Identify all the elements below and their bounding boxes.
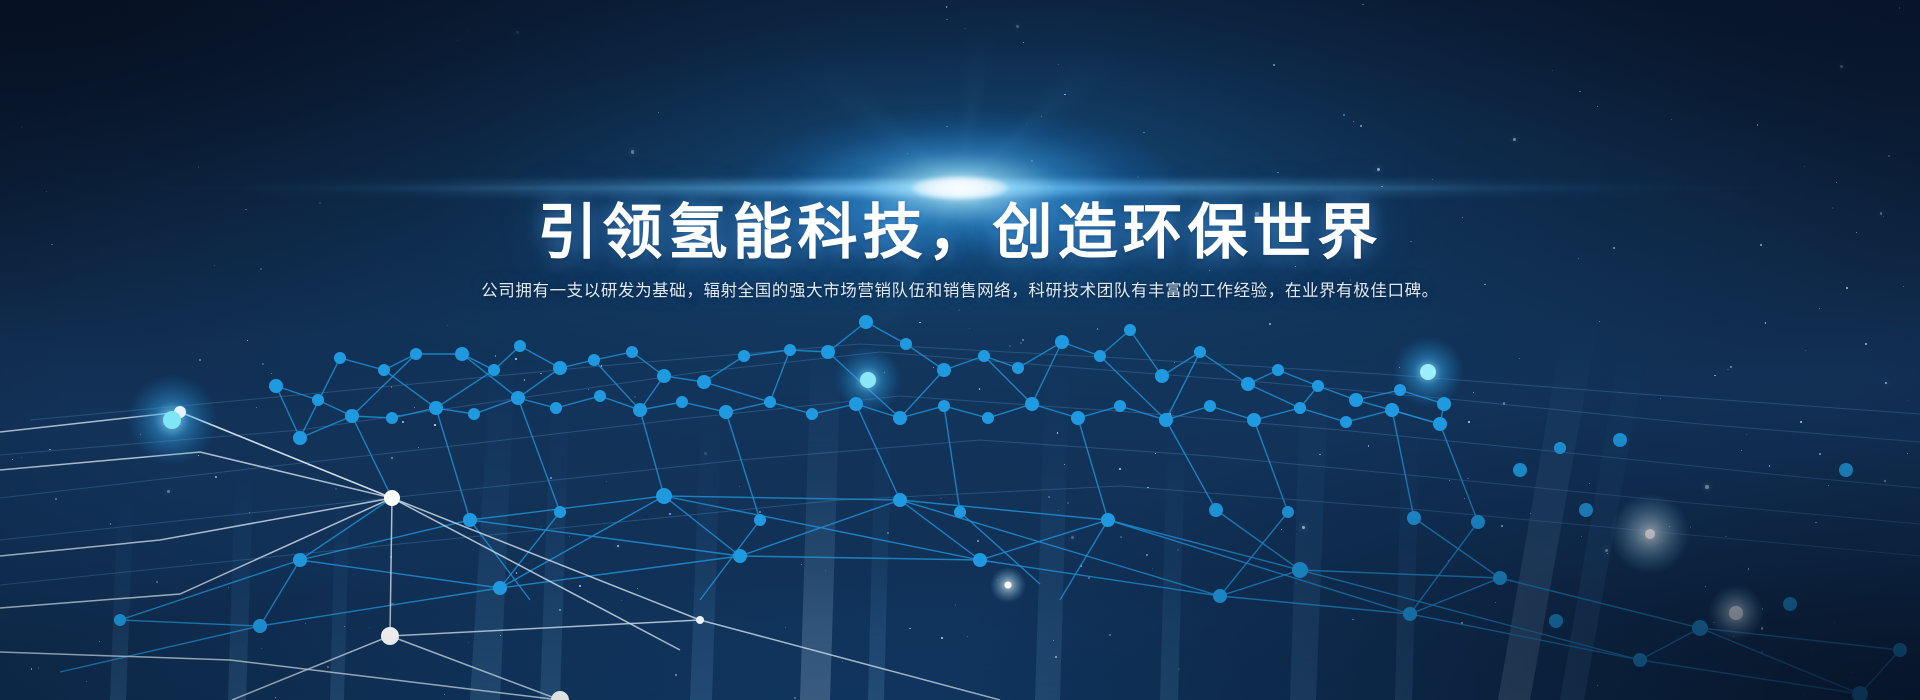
background-gradient: [0, 0, 1920, 700]
hero-banner: 引领氢能科技，创造环保世界 公司拥有一支以研发为基础，辐射全国的强大市场营销队伍…: [0, 0, 1920, 700]
